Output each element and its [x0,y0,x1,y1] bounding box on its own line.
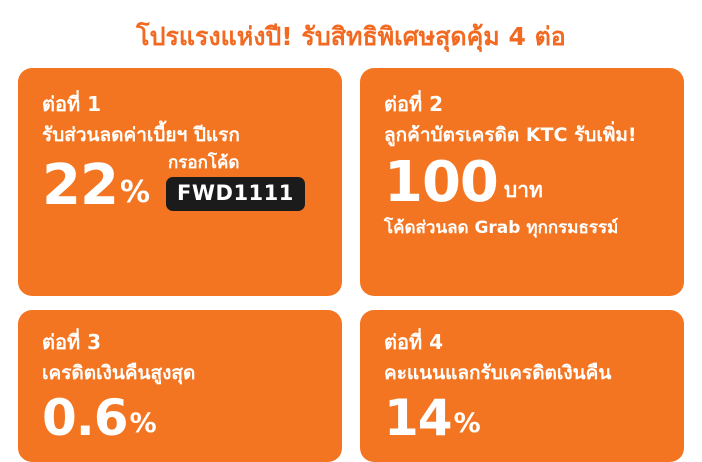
offer-2-footnote: โค้ดส่วนลด Grab ทุกกรมธรรม์ [384,216,660,240]
offer-2-value-row: 100 บาท [384,152,660,214]
offer-3-subtitle: เครดิตเงินคืนสูงสุด [42,358,318,388]
offer-1-title: ต่อที่ 1 [42,90,318,118]
offer-4-value-row: 14 % [384,390,660,446]
offer-4-value: 14 [384,390,452,446]
offer-card-4: ต่อที่ 4 คะแนนแลกรับเครดิตเงินคืน 14 % [360,310,684,462]
offer-card-3: ต่อที่ 3 เครดิตเงินคืนสูงสุด 0.6 % [18,310,342,462]
offer-2-title: ต่อที่ 2 [384,90,660,118]
offer-2-subtitle: ลูกค้าบัตรเครดิต KTC รับเพิ่ม! [384,120,660,150]
offer-3-unit: % [130,402,157,446]
offer-4-title: ต่อที่ 4 [384,328,660,356]
offers-grid: ต่อที่ 1 รับส่วนลดค่าเบี้ยฯ ปีแรก 22 % ก… [18,68,684,462]
offer-3-title: ต่อที่ 3 [42,328,318,356]
offer-1-value-row: 22 % กรอกโค้ด FWD1111 [42,152,318,217]
offer-2-unit: บาท [504,166,543,214]
offer-3-value-row: 0.6 % [42,390,318,446]
offer-card-1: ต่อที่ 1 รับส่วนลดค่าเบี้ยฯ ปีแรก 22 % ก… [18,68,342,296]
offer-card-2: ต่อที่ 2 ลูกค้าบัตรเครดิต KTC รับเพิ่ม! … [360,68,684,296]
offer-3-value: 0.6 [42,390,128,446]
offer-4-subtitle: คะแนนแลกรับเครดิตเงินคืน [384,358,660,388]
offer-1-code-block: กรอกโค้ด FWD1111 [166,152,305,211]
offer-1-code-label: กรอกโค้ด [168,152,239,174]
offer-4-unit: % [454,402,481,446]
offer-1-unit: % [120,169,150,217]
page-title: โปรแรงแห่งปี! รับสิทธิพิเศษสุดคุ้ม 4 ต่อ [18,20,684,54]
offer-2-value: 100 [384,152,498,214]
promo-code-badge: FWD1111 [166,177,305,211]
promotion-banner: โปรแรงแห่งปี! รับสิทธิพิเศษสุดคุ้ม 4 ต่อ… [0,0,702,459]
offer-1-subtitle: รับส่วนลดค่าเบี้ยฯ ปีแรก [42,120,318,150]
offer-1-value: 22 [42,155,118,217]
